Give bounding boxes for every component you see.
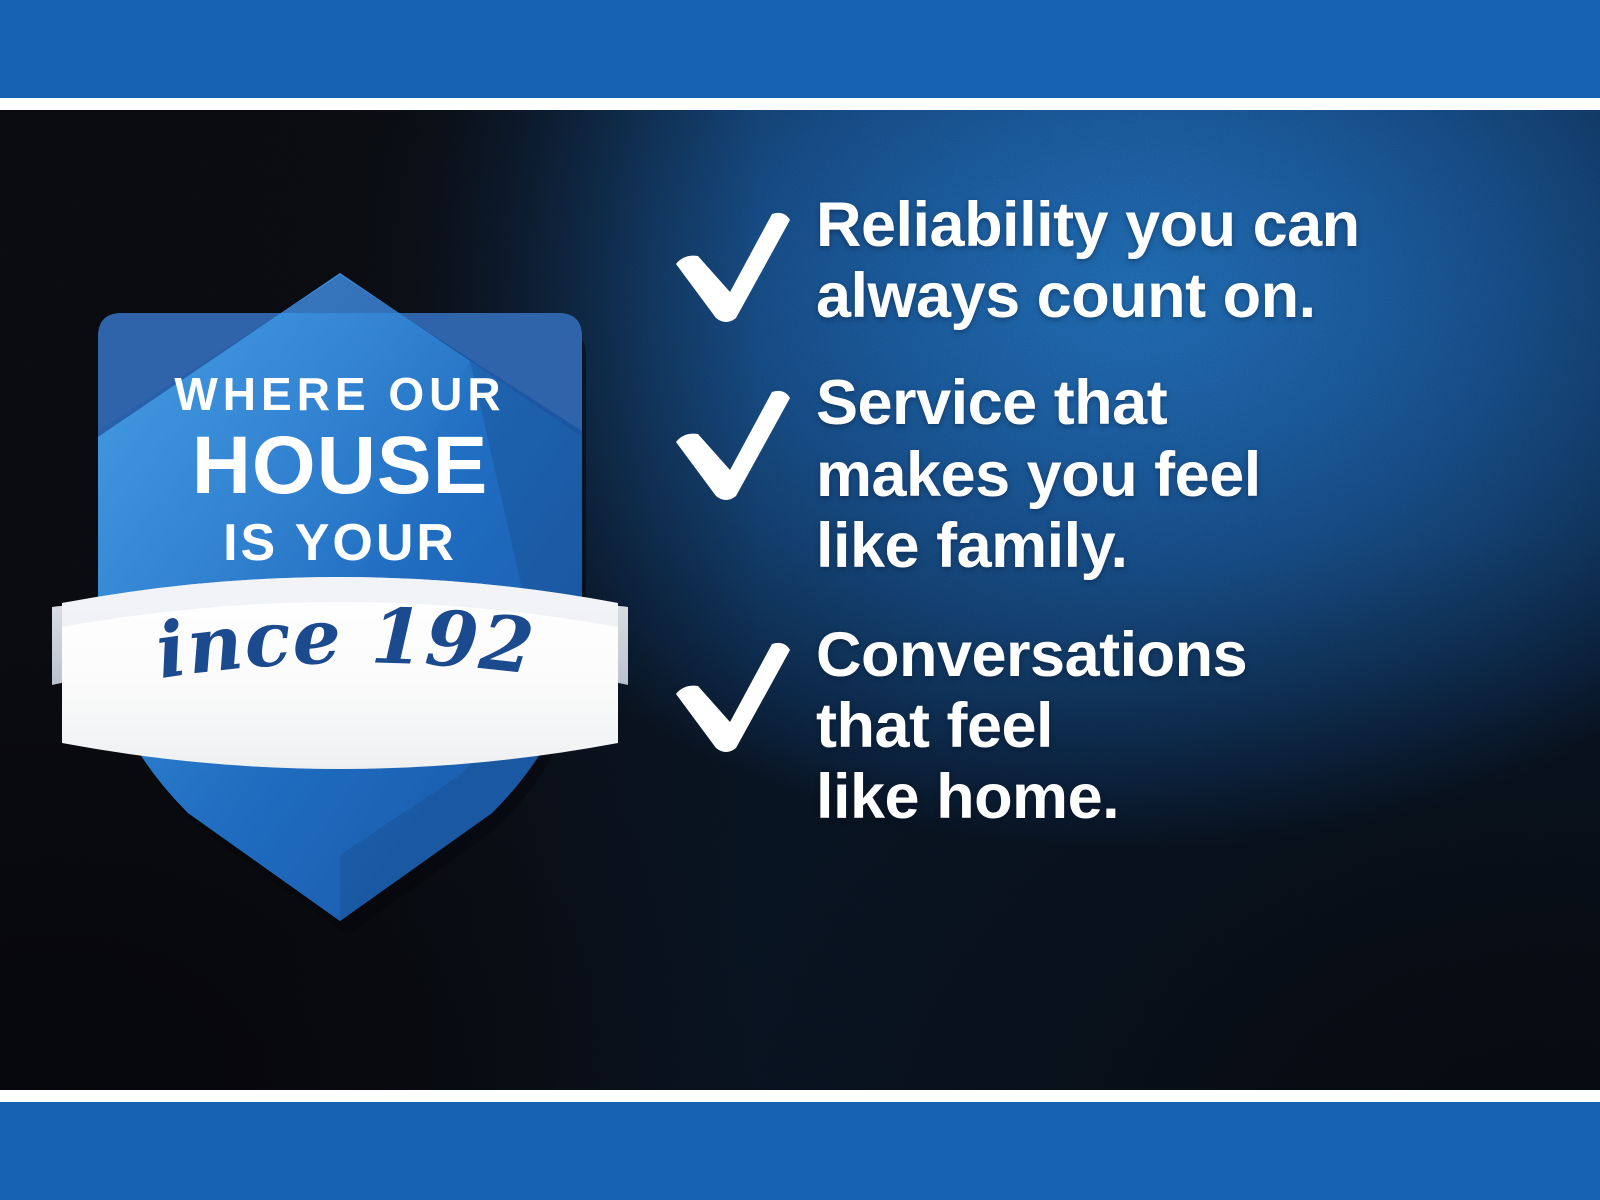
list-item-text: Service that makes you feel like family. <box>816 368 1548 582</box>
benefits-list: Reliability you can always count on. Ser… <box>668 190 1548 834</box>
list-item: Service that makes you feel like family. <box>668 368 1548 582</box>
shield-line-2: IS YOUR <box>223 514 457 572</box>
bottom-brand-bar <box>0 1102 1600 1200</box>
list-item-text: Conversations that feel like home. <box>816 620 1548 834</box>
top-white-divider <box>0 98 1600 110</box>
shield-emblem: WHERE OUR HOUSE IS YOUR HOUSE Since 1923 <box>40 255 640 945</box>
bottom-white-divider <box>0 1090 1600 1102</box>
check-icon <box>668 620 816 754</box>
promo-graphic: WHERE OUR HOUSE IS YOUR HOUSE Since 1923 <box>0 0 1600 1200</box>
top-brand-bar <box>0 0 1600 98</box>
check-icon <box>668 190 816 324</box>
shield-line-0: WHERE OUR <box>174 368 505 420</box>
list-item: Reliability you can always count on. <box>668 190 1548 332</box>
shield-line-1: HOUSE <box>192 420 489 511</box>
check-icon <box>668 368 816 502</box>
list-item-text: Reliability you can always count on. <box>816 190 1548 332</box>
list-item: Conversations that feel like home. <box>668 620 1548 834</box>
